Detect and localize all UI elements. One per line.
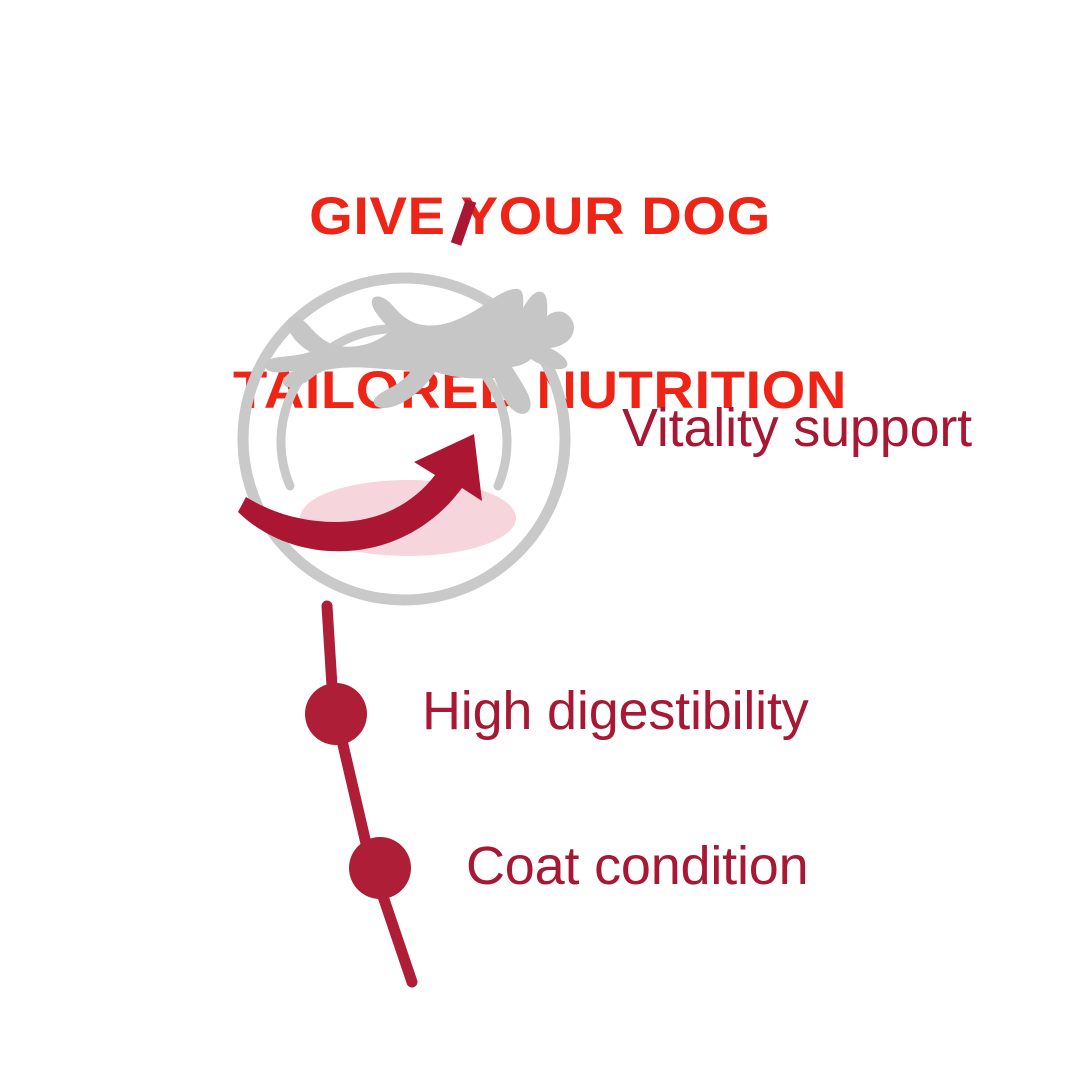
footer-brand-bar [0,968,1080,1080]
benefit-label-coat-condition: Coat condition [466,836,808,896]
leaping-dog-vitality-icon [218,196,618,616]
pointer-tick-icon [456,201,471,244]
poster-canvas: GIVE YOUR DOG TAILORED NUTRITION [0,0,1080,1080]
benefit-connector-line [280,590,500,990]
benefit-label-high-digestibility: High digestibility [422,681,809,741]
benefit-label-vitality-support: Vitality support [622,398,972,458]
connector-node-icon [349,837,411,899]
connector-node-icon [305,683,367,745]
